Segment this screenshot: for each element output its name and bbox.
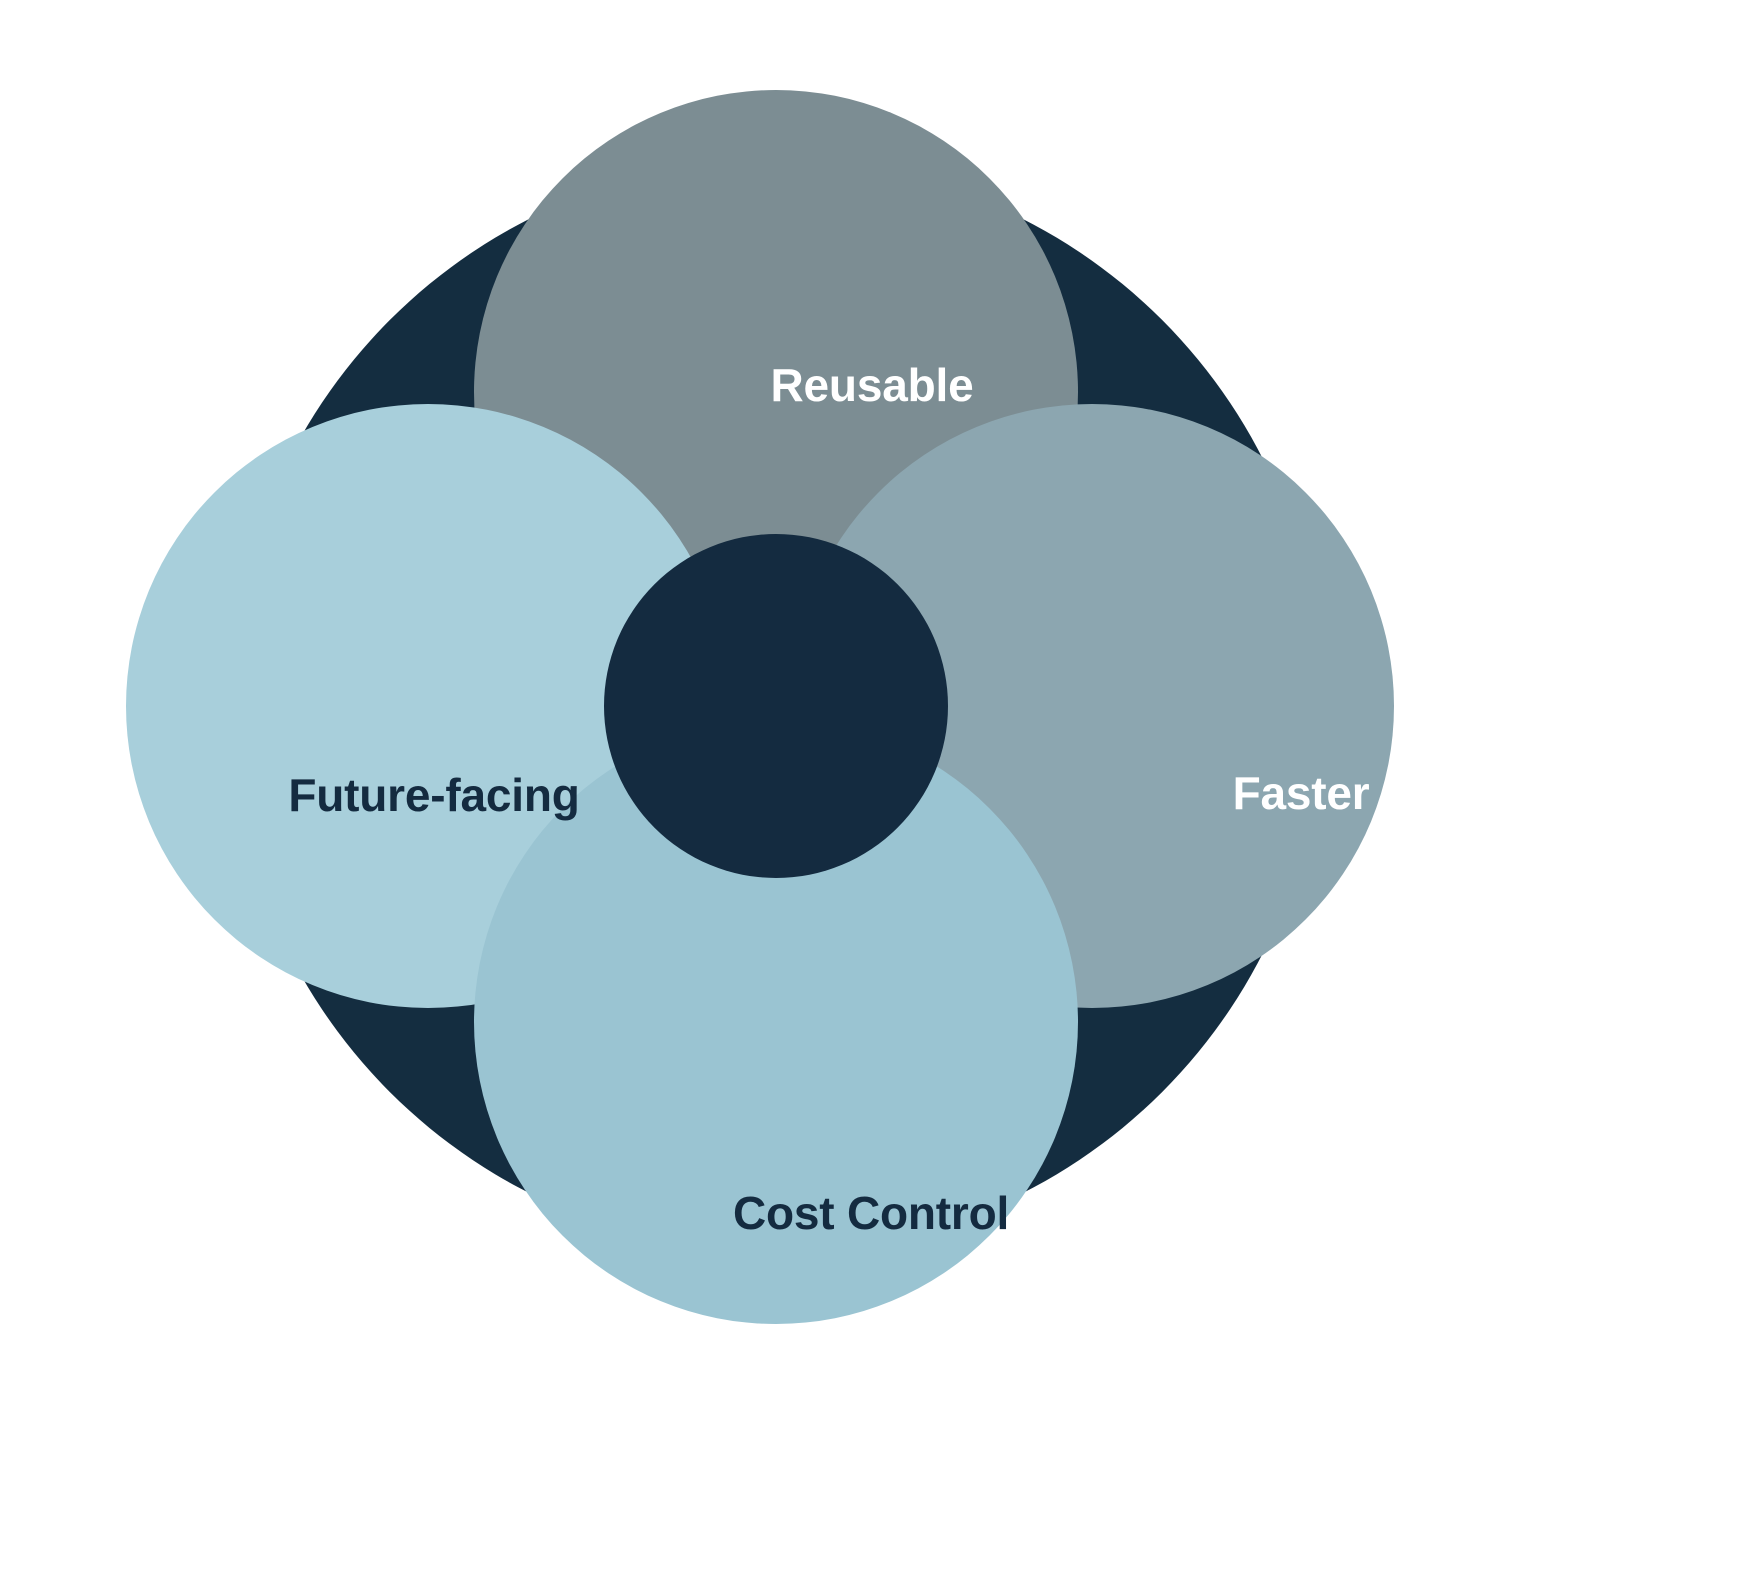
label-reusable: Reusable: [771, 359, 974, 411]
label-faster: Faster: [1233, 767, 1370, 819]
venn-diagram-root: Reusable Future-facing Faster Cost Contr…: [0, 0, 1756, 1570]
label-cost-control: Cost Control: [733, 1187, 1009, 1239]
venn-diagram-canvas: Reusable Future-facing Faster Cost Contr…: [0, 0, 1756, 1570]
label-future-facing: Future-facing: [288, 769, 579, 821]
center-intersection-circle[interactable]: [604, 534, 948, 878]
